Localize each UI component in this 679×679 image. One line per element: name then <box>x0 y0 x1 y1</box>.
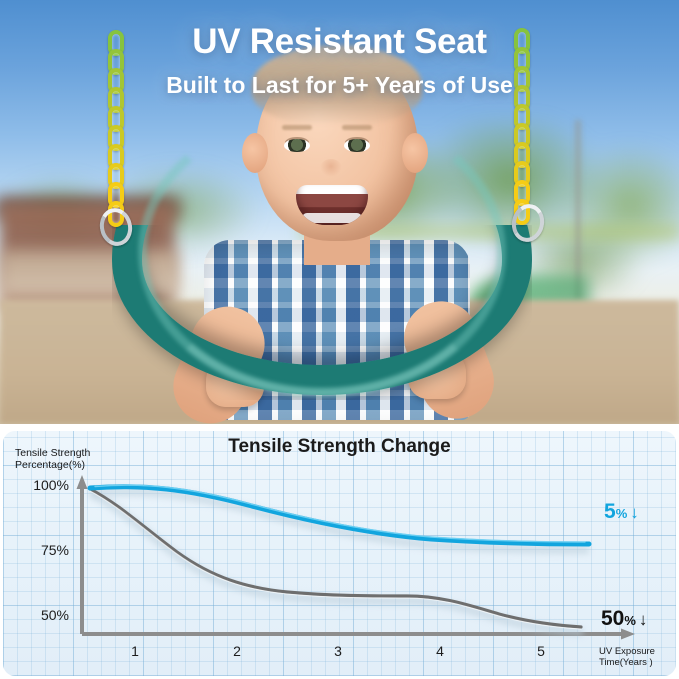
chart-plot-area <box>3 431 676 676</box>
blue-end-unit: % <box>616 506 628 521</box>
blue-down-arrow-icon: ↓ <box>630 503 639 522</box>
gray-line-shadow <box>91 493 583 632</box>
axis-lines <box>77 475 636 640</box>
series-ordinary-seat-highlight <box>90 491 581 629</box>
hero-photo: UV Resistant Seat Built to Last for 5+ Y… <box>0 0 679 424</box>
series-ordinary-seat <box>90 489 581 627</box>
product-infographic: UV Resistant Seat Built to Last for 5+ Y… <box>0 0 679 679</box>
gray-down-arrow-icon: ↓ <box>639 610 648 629</box>
seat-highlight <box>138 107 506 397</box>
tensile-strength-chart: Tensile Strength Change Tensile Strength… <box>3 431 676 676</box>
blue-end-value: 5 <box>604 500 616 523</box>
gray-end-value: 50 <box>601 607 624 630</box>
page-subtitle: Built to Last for 5+ Years of Use <box>0 72 679 99</box>
gray-end-label: 50%↓ <box>601 607 647 631</box>
page-title: UV Resistant Seat <box>0 22 679 62</box>
background-pole <box>575 120 581 300</box>
swing-seat <box>112 225 532 400</box>
blue-end-label: 5%↓ <box>604 500 639 524</box>
headline-block: UV Resistant Seat Built to Last for 5+ Y… <box>0 22 679 99</box>
gray-end-unit: % <box>624 613 636 628</box>
